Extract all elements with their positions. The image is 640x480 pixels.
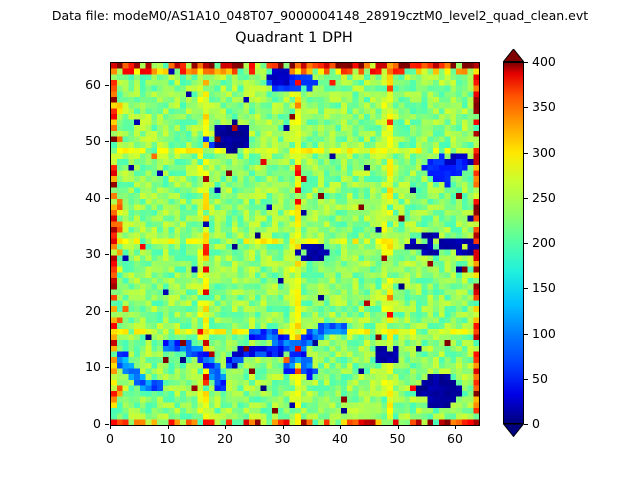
y-tick-label: 20 [63,303,101,318]
y-tick-label: 40 [63,190,101,205]
x-tick-label: 60 [435,431,475,446]
x-tick-mark [340,425,341,429]
colorbar-tick-mark [524,107,528,108]
y-tick-label: 10 [63,359,101,374]
x-tick-mark [455,425,456,429]
colorbar-tick-mark [524,243,528,244]
colorbar-tick-mark [524,288,528,289]
y-tick-mark [105,367,109,368]
y-tick-mark [105,424,109,425]
colorbar-tick-mark [524,424,528,425]
y-tick-label: 30 [63,246,101,261]
colorbar-tick-label: 400 [532,54,556,69]
colorbar-tick-mark [524,334,528,335]
x-tick-label: 10 [148,431,188,446]
colorbar-gradient [503,62,524,424]
x-tick-mark [398,425,399,429]
x-tick-label: 50 [378,431,418,446]
colorbar[interactable] [503,62,524,424]
y-tick-mark [105,254,109,255]
x-tick-mark [225,425,226,429]
figure-canvas: Data file: modeM0/AS1A10_048T07_90000041… [0,0,640,480]
colorbar-tick-mark [524,153,528,154]
dph-heatmap-image[interactable] [111,63,479,425]
x-tick-mark [168,425,169,429]
colorbar-tick-label: 0 [532,416,540,431]
heatmap-axes[interactable] [110,62,480,426]
x-tick-label: 0 [90,431,130,446]
y-tick-mark [105,141,109,142]
colorbar-extend-min-arrow [503,424,524,437]
colorbar-tick-mark [524,62,528,63]
colorbar-tick-mark [524,379,528,380]
x-tick-label: 30 [263,431,303,446]
y-tick-label: 50 [63,133,101,148]
y-tick-label: 60 [63,77,101,92]
page-title: Quadrant 1 DPH [110,30,478,46]
y-tick-mark [105,198,109,199]
data-file-label: Data file: modeM0/AS1A10_048T07_90000041… [0,8,640,23]
x-tick-mark [283,425,284,429]
x-tick-mark [110,425,111,429]
colorbar-tick-label: 350 [532,99,556,114]
colorbar-tick-mark [524,198,528,199]
colorbar-tick-label: 300 [532,145,556,160]
x-tick-label: 20 [205,431,245,446]
y-tick-mark [105,85,109,86]
colorbar-extend-max-arrow [503,49,524,62]
colorbar-tick-label: 50 [532,371,548,386]
colorbar-tick-label: 250 [532,190,556,205]
colorbar-tick-label: 150 [532,280,556,295]
colorbar-tick-label: 100 [532,326,556,341]
colorbar-tick-label: 200 [532,235,556,250]
y-tick-label: 0 [63,416,101,431]
y-tick-mark [105,311,109,312]
x-tick-label: 40 [320,431,360,446]
